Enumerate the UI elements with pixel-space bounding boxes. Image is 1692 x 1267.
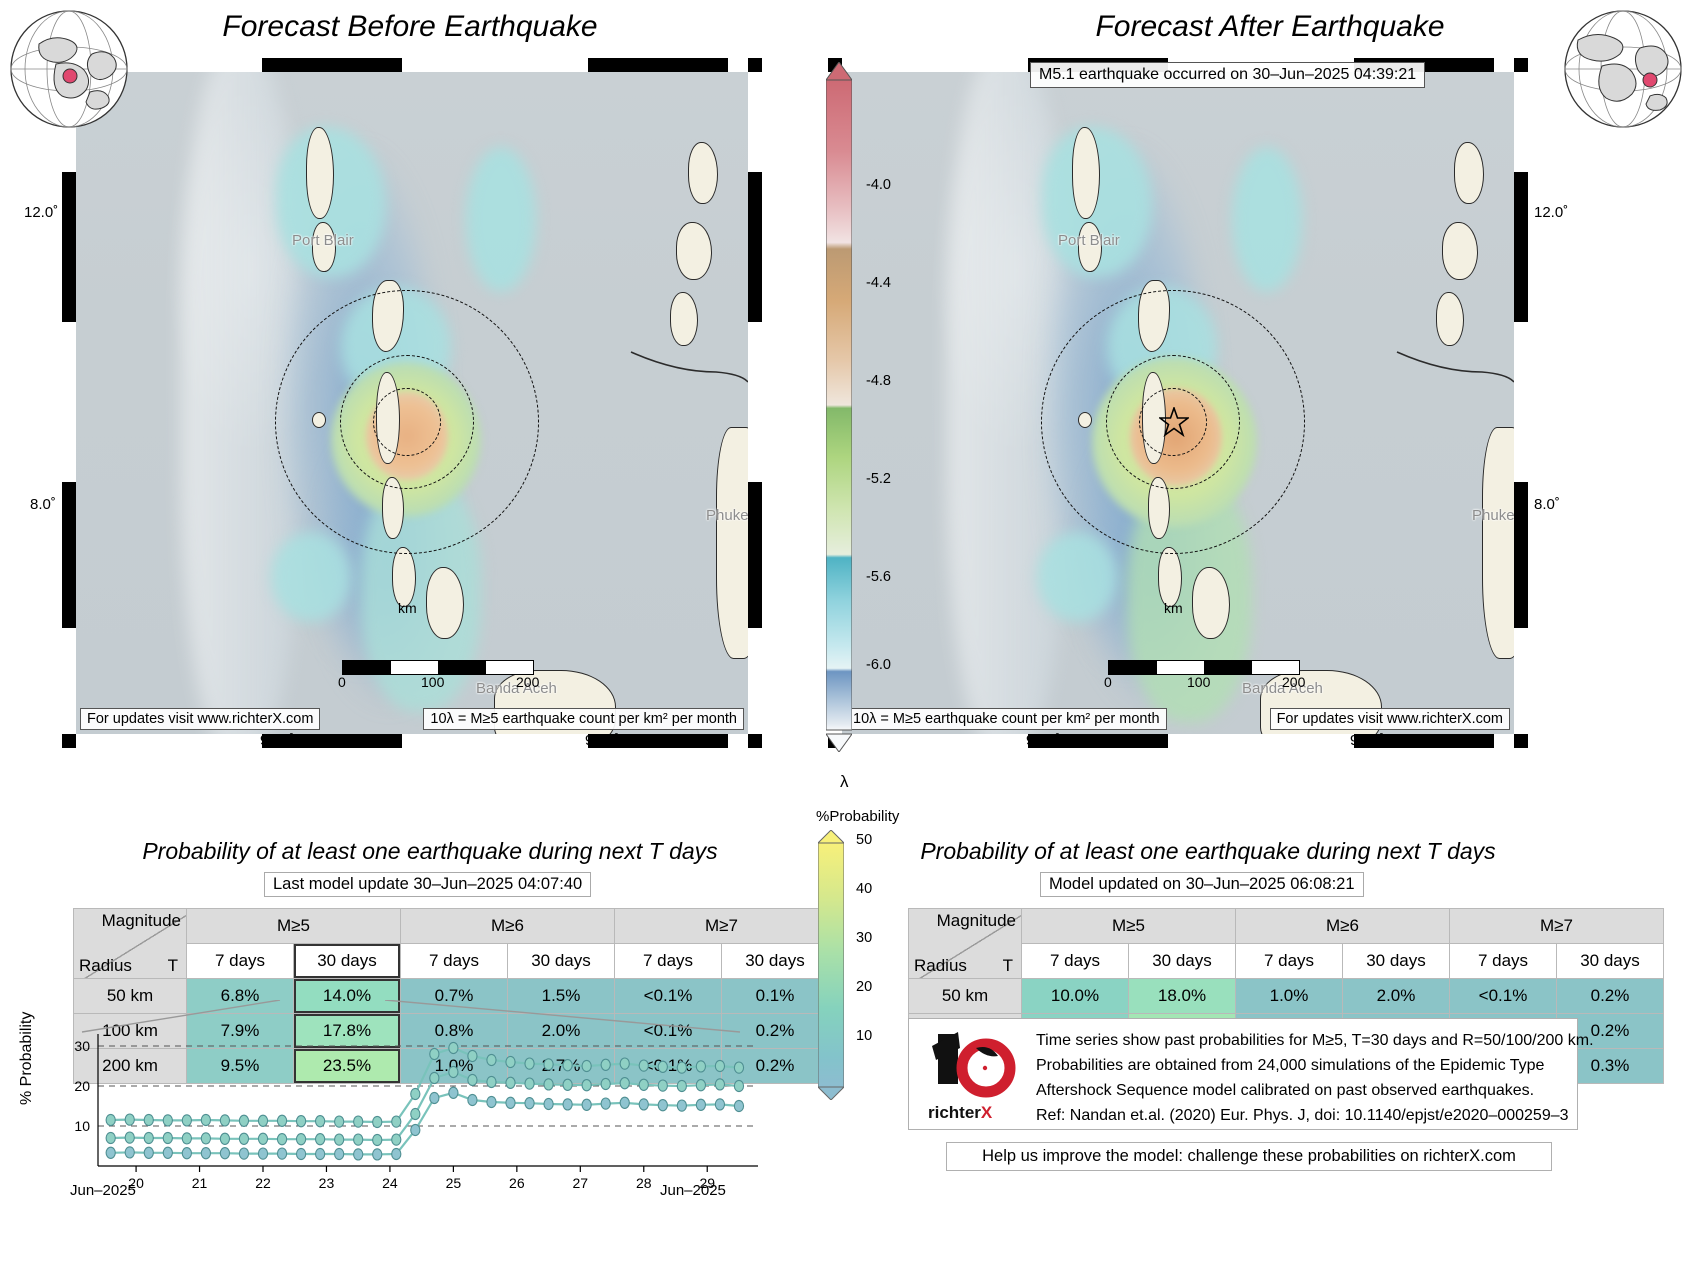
svg-text:21: 21 (192, 1175, 208, 1191)
table-corner-cell: Magnitude Radius T (909, 909, 1022, 979)
place-label-phuket: Phuket (706, 507, 748, 524)
header-duration: 30 days (1557, 944, 1664, 979)
svg-text:30: 30 (74, 1038, 90, 1054)
svg-text:20: 20 (74, 1078, 90, 1094)
right-table-subtitle: Model updated on 30–Jun–2025 06:08:21 (1040, 872, 1364, 897)
help-box[interactable]: Help us improve the model: challenge the… (946, 1142, 1552, 1171)
scale-unit-label: km (398, 600, 417, 616)
prob-tick-40: 40 (856, 881, 872, 897)
svg-text:25: 25 (446, 1175, 462, 1191)
right-lon-tick-92: 92.0˚ (1026, 732, 1060, 749)
event-banner: M5.1 earthquake occurred on 30–Jun–2025 … (1030, 62, 1425, 88)
header-duration: 7 days (401, 944, 508, 979)
scale-tick-100: 100 (421, 674, 444, 690)
header-m5: M≥5 (1022, 909, 1236, 944)
svg-text:23: 23 (319, 1175, 335, 1191)
row-radius-label: 50 km (909, 979, 1022, 1014)
lambda-tick--5.6: -5.6 (866, 569, 891, 585)
lambda-legend-left: 10λ = M≥5 earthquake count per km² per m… (423, 708, 744, 730)
scale-unit-label: km (1164, 600, 1183, 616)
cell-prob: 1.0% (1236, 979, 1343, 1014)
cell-prob: 0.2% (1557, 979, 1664, 1014)
model-info-line-1: Time series show past probabilities for … (1036, 1028, 1594, 1053)
header-duration: 30 days (294, 944, 401, 979)
prob-colorbar-title: %Probability (816, 808, 899, 825)
model-info-line-2: Probabilities are obtained from 24,000 s… (1036, 1053, 1544, 1078)
corner-t-label: T (168, 956, 178, 976)
scale-tick-200: 200 (516, 674, 539, 690)
header-duration: 7 days (1022, 944, 1129, 979)
left-lat-tick-12: 12.0˚ (24, 204, 58, 221)
lambda-legend-right: 10λ = M≥5 earthquake count per km² per m… (846, 708, 1167, 730)
header-duration: 7 days (187, 944, 294, 979)
header-duration: 30 days (1129, 944, 1236, 979)
left-lat-tick-8: 8.0˚ (30, 496, 56, 513)
header-duration: 30 days (508, 944, 615, 979)
header-duration: 30 days (1343, 944, 1450, 979)
header-m7: M≥7 (615, 909, 829, 944)
richterx-logo-label: richterX (928, 1100, 992, 1125)
scale-tick-0: 0 (338, 674, 346, 690)
map-canvas-before[interactable]: Port Blair Phuket Banda Aceh km 0 100 20… (76, 72, 748, 734)
scale-bar (1108, 660, 1300, 675)
timeseries-y-label: % Probability (18, 1012, 36, 1105)
model-info-line-4: Ref: Nandan et.al. (2020) Eur. Phys. J, … (1036, 1103, 1569, 1128)
header-m5: M≥5 (187, 909, 401, 944)
radius-circle-50km (373, 388, 441, 456)
lambda-tick--4.0: -4.0 (866, 177, 891, 193)
scale-tick-100: 100 (1187, 674, 1210, 690)
svg-text:22: 22 (255, 1175, 271, 1191)
zoom-connector-lines (40, 1000, 770, 1040)
header-m7: M≥7 (1450, 909, 1664, 944)
corner-radius-label: Radius (79, 956, 132, 976)
scale-bar (342, 660, 534, 675)
left-table-subtitle: Last model update 30–Jun–2025 04:07:40 (264, 872, 591, 897)
timeseries-x-label-right: Jun–2025 (660, 1182, 726, 1199)
timeseries-x-label-left: Jun–2025 (70, 1182, 136, 1199)
probability-colorbar (818, 830, 844, 1100)
svg-text:27: 27 (573, 1175, 589, 1191)
forecast-map-after[interactable]: Port Blair Phuket Banda Aceh km 0 100 20… (828, 58, 1528, 748)
left-table-heading: Probability of at least one earthquake d… (60, 838, 800, 865)
right-lon-tick-96: 96.0˚ (1350, 732, 1384, 749)
table-row[interactable]: 50 km 10.0% 18.0% 1.0% 2.0% <0.1% 0.2% (909, 979, 1664, 1014)
left-panel-title: Forecast Before Earthquake (80, 10, 740, 44)
epicenter-star-icon (1159, 407, 1189, 437)
prob-tick-50: 50 (856, 832, 872, 848)
prob-tick-20: 20 (856, 979, 872, 995)
cell-prob: 18.0% (1129, 979, 1236, 1014)
header-duration: 7 days (1450, 944, 1557, 979)
header-m6: M≥6 (1236, 909, 1450, 944)
map-canvas-after[interactable]: Port Blair Phuket Banda Aceh km 0 100 20… (842, 72, 1514, 734)
lambda-tick--5.2: -5.2 (866, 471, 891, 487)
model-info-line-3: Aftershock Sequence model calibrated on … (1036, 1078, 1534, 1103)
right-table-heading: Probability of at least one earthquake d… (838, 838, 1578, 865)
left-lon-tick-96: 96.0˚ (585, 732, 619, 749)
svg-text:24: 24 (382, 1175, 398, 1191)
svg-text:10: 10 (74, 1118, 90, 1134)
cell-prob: 2.0% (1343, 979, 1450, 1014)
place-label-phuket: Phuket (1472, 507, 1514, 524)
left-lon-tick-92: 92.0˚ (260, 732, 294, 749)
scale-tick-200: 200 (1282, 674, 1305, 690)
lambda-axis-label: λ (840, 772, 849, 792)
header-duration: 30 days (722, 944, 829, 979)
header-duration: 7 days (615, 944, 722, 979)
corner-radius-label: Radius (914, 956, 967, 976)
corner-magnitude-label: Magnitude (937, 911, 1016, 931)
prob-tick-10: 10 (856, 1028, 872, 1044)
place-label-port-blair: Port Blair (292, 232, 354, 249)
table-corner-cell: Magnitude Radius T (74, 909, 187, 979)
lambda-tick--6.0: -6.0 (866, 657, 891, 673)
lambda-tick--4.4: -4.4 (866, 275, 891, 291)
right-lat-tick-12: 12.0˚ (1534, 204, 1568, 221)
svg-text:28: 28 (636, 1175, 652, 1191)
globe-inset-left (4, 4, 134, 134)
timeseries-chart[interactable]: 10203020212223242526272829 (40, 1020, 770, 1200)
svg-text:26: 26 (509, 1175, 525, 1191)
globe-inset-right (1558, 4, 1688, 134)
header-m6: M≥6 (401, 909, 615, 944)
forecast-map-before[interactable]: Port Blair Phuket Banda Aceh km 0 100 20… (62, 58, 762, 748)
cell-prob: <0.1% (1450, 979, 1557, 1014)
prob-tick-30: 30 (856, 930, 872, 946)
right-panel-title: Forecast After Earthquake (940, 10, 1600, 44)
cell-prob: 10.0% (1022, 979, 1129, 1014)
scale-tick-0: 0 (1104, 674, 1112, 690)
lambda-tick--4.8: -4.8 (866, 373, 891, 389)
corner-t-label: T (1003, 956, 1013, 976)
right-lat-tick-8: 8.0˚ (1534, 496, 1560, 513)
updates-note-left[interactable]: For updates visit www.richterX.com (80, 708, 320, 730)
place-label-port-blair: Port Blair (1058, 232, 1120, 249)
lambda-colorbar (826, 62, 852, 752)
corner-magnitude-label: Magnitude (102, 911, 181, 931)
header-duration: 7 days (1236, 944, 1343, 979)
updates-note-right[interactable]: For updates visit www.richterX.com (1270, 708, 1510, 730)
